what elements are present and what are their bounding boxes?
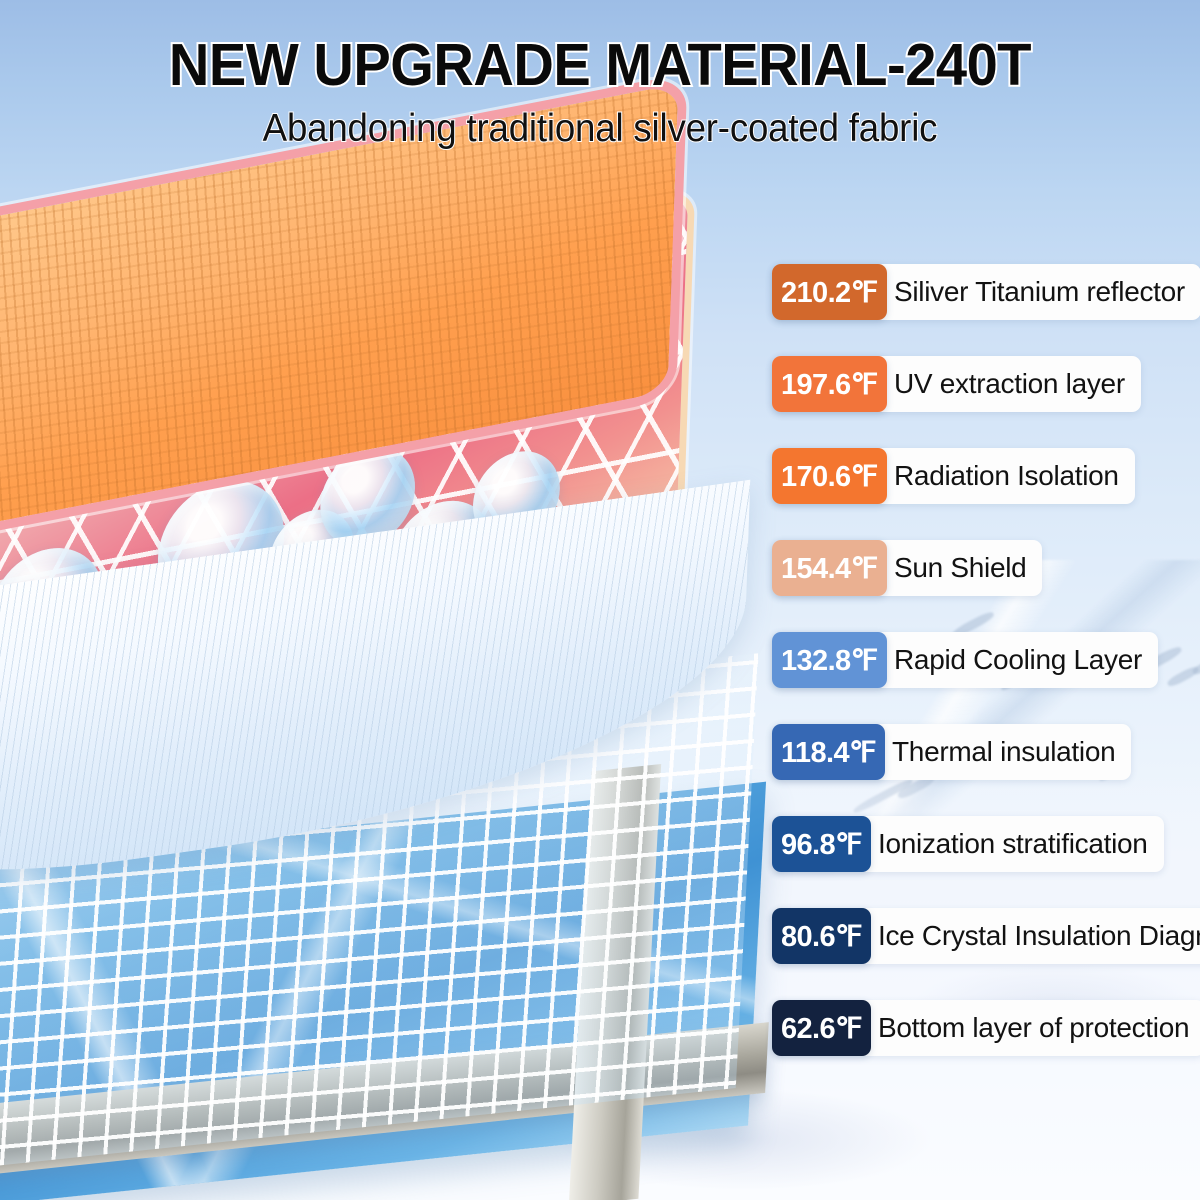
temperature-chip: 118.4℉	[772, 724, 885, 780]
layer-legend-item[interactable]: Bottom layer of protection62.6℉	[772, 1000, 1200, 1056]
layer-legend-item[interactable]: Siliver Titanium reflector210.2℉	[772, 264, 1200, 320]
heading-block: NEW UPGRADE MATERIAL-240T Abandoning tra…	[0, 34, 1200, 151]
temperature-chip: 96.8℉	[772, 816, 871, 872]
layer-legend-item[interactable]: Ionization stratification96.8℉	[772, 816, 1200, 872]
layer-legend-item[interactable]: Thermal insulation118.4℉	[772, 724, 1200, 780]
layer-legend-item[interactable]: Rapid Cooling Layer132.8℉	[772, 632, 1200, 688]
temperature-chip: 197.6℉	[772, 356, 887, 412]
temperature-chip: 154.4℉	[772, 540, 887, 596]
layer-legend-item[interactable]: Sun Shield154.4℉	[772, 540, 1200, 596]
layer-legend-item[interactable]: UV extraction layer197.6℉	[772, 356, 1200, 412]
layer-legend-list: Siliver Titanium reflector210.2℉UV extra…	[772, 264, 1200, 1056]
temperature-chip: 80.6℉	[772, 908, 871, 964]
layer-legend-item[interactable]: Ice Crystal Insulation Diagram80.6℉	[772, 908, 1200, 964]
page-title: NEW UPGRADE MATERIAL-240T	[30, 34, 1170, 97]
product-illustration	[0, 150, 860, 1200]
temperature-chip: 62.6℉	[772, 1000, 871, 1056]
page-subtitle: Abandoning traditional silver-coated fab…	[36, 107, 1164, 151]
temperature-chip: 170.6℉	[772, 448, 887, 504]
layer-legend-item[interactable]: Radiation Isolation170.6℉	[772, 448, 1200, 504]
temperature-chip: 210.2℉	[772, 264, 887, 320]
temperature-chip: 132.8℉	[772, 632, 887, 688]
